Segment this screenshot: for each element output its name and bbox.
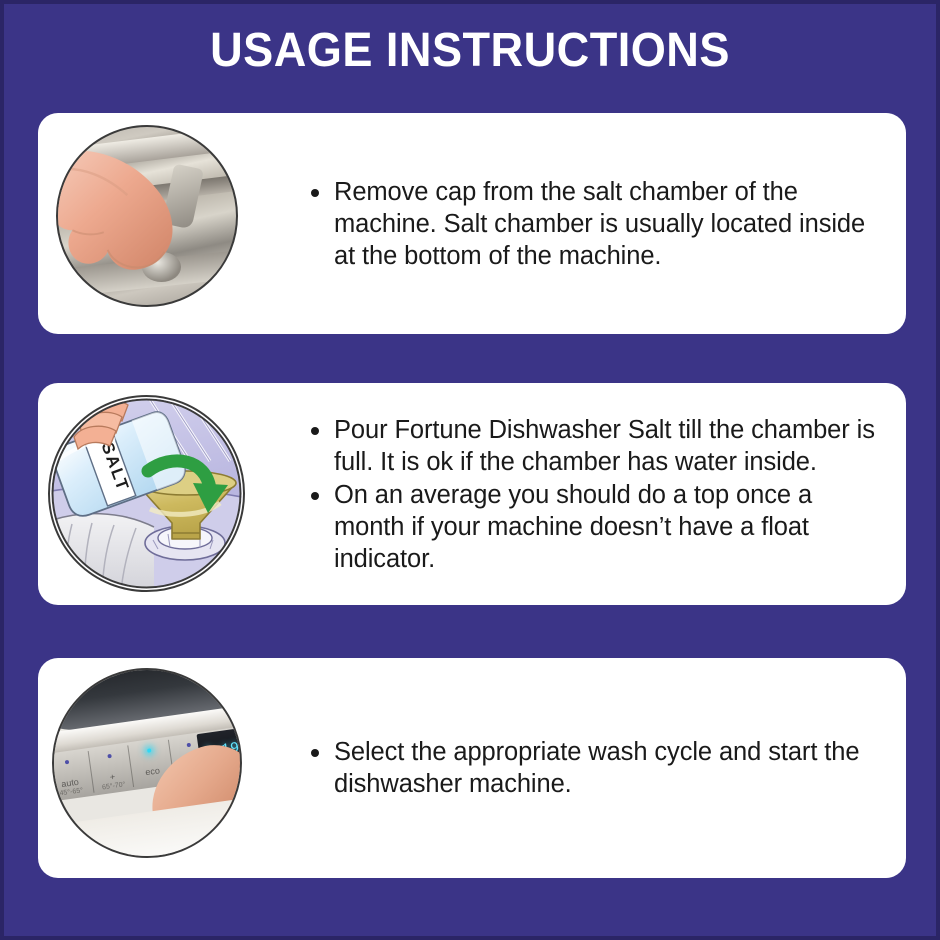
usage-instructions-poster: USAGE INSTRUCTIONS bbox=[0, 0, 940, 940]
photo-hand-removing-salt-chamber-cap bbox=[56, 125, 238, 307]
indicator-dot bbox=[187, 742, 192, 747]
instruction-card-2-media: SALT bbox=[38, 383, 308, 605]
hand-illustration-icon bbox=[56, 138, 204, 289]
page-title: USAGE INSTRUCTIONS bbox=[32, 22, 908, 80]
indicator-dot-lit bbox=[148, 748, 153, 753]
instruction-card-1-body: Remove cap from the salt chamber of the … bbox=[308, 176, 906, 272]
pour-salt-drawing-icon: SALT bbox=[50, 397, 243, 590]
indicator-dot bbox=[108, 754, 113, 759]
dishwasher-front-panel bbox=[52, 795, 242, 858]
instruction-card-3-bullets: Select the appropriate wash cycle and st… bbox=[308, 736, 880, 800]
instruction-card-2-body: Pour Fortune Dishwasher Salt till the ch… bbox=[308, 414, 906, 575]
instruction-card-1-bullets: Remove cap from the salt chamber of the … bbox=[308, 176, 880, 272]
list-item: On an average you should do a top once a… bbox=[308, 479, 880, 575]
indicator-dot bbox=[65, 759, 70, 764]
list-item: Select the appropriate wash cycle and st… bbox=[308, 736, 880, 800]
instruction-card-3: auto 45°-65° + 65°-70° eco ⊓ bbox=[38, 658, 906, 878]
instruction-card-2-bullets: Pour Fortune Dishwasher Salt till the ch… bbox=[308, 414, 880, 575]
photo-dishwasher-control-panel: auto 45°-65° + 65°-70° eco ⊓ bbox=[52, 668, 242, 858]
list-item: Remove cap from the salt chamber of the … bbox=[308, 176, 880, 272]
instruction-card-1-media bbox=[38, 113, 308, 334]
instruction-card-2: SALT bbox=[38, 383, 906, 605]
instruction-card-3-body: Select the appropriate wash cycle and st… bbox=[308, 736, 906, 800]
instruction-card-3-media: auto 45°-65° + 65°-70° eco ⊓ bbox=[38, 658, 308, 878]
instruction-card-1: Remove cap from the salt chamber of the … bbox=[38, 113, 906, 334]
list-item: Pour Fortune Dishwasher Salt till the ch… bbox=[308, 414, 880, 478]
illustration-pouring-salt-into-chamber: SALT bbox=[48, 395, 245, 592]
